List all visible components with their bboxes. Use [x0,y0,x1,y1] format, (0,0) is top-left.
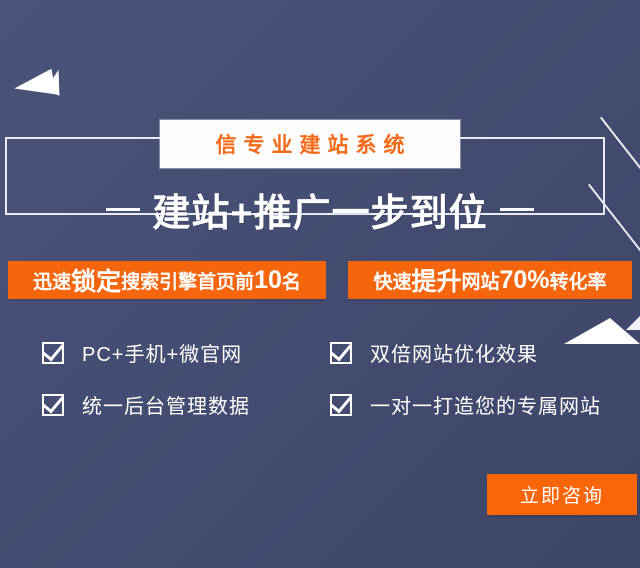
triangle-decor-small [626,316,640,330]
promo-tag-part-emphasis: 提升 [411,262,461,298]
badge-label: 信专业建站系统 [209,129,412,159]
checkbox-checked-icon [42,394,64,416]
promo-tag-part: 快速 [373,267,411,294]
consult-now-button-label: 立即咨询 [520,481,604,508]
promo-tag-part: 迅速 [33,267,71,294]
promo-tag-part-emphasis: 10 [254,266,282,295]
feature-item: 统一后台管理数据 [42,390,250,419]
headline-text: 建站+推广一步到位 [152,182,487,237]
promo-tag-part: 搜索引擎首页前 [121,267,254,294]
promo-tag-part: 网站 [461,267,499,294]
headline-rule-right [500,208,534,211]
promo-tag-part-emphasis: 锁定 [71,262,121,298]
headline-row: 建站+推广一步到位 [0,182,640,237]
promo-banner: 信专业建站系统 建站+推广一步到位 迅速 锁定 搜索引擎首页前 10 名 快速 … [0,0,640,568]
feature-label: 统一后台管理数据 [82,390,250,419]
feature-label: 双倍网站优化效果 [370,338,538,367]
checkbox-checked-icon [330,394,352,416]
badge-plate: 信专业建站系统 [160,120,460,168]
checkbox-checked-icon [330,342,352,364]
headline-rule-left [106,208,140,211]
checkbox-checked-icon [42,342,64,364]
feature-item: 双倍网站优化效果 [330,338,538,367]
promo-tag-bar-1: 迅速 锁定 搜索引擎首页前 10 名 [8,261,326,299]
promo-tag-part-emphasis: 70% [499,266,549,295]
promo-tag-bar-2: 快速 提升 网站 70% 转化率 [348,261,632,299]
feature-item: 一对一打造您的专属网站 [330,390,601,419]
feature-label: 一对一打造您的专属网站 [370,390,601,419]
promo-tag-part: 名 [282,267,301,294]
feature-item: PC+手机+微官网 [42,338,242,367]
feature-label: PC+手机+微官网 [82,338,242,367]
diagonal-line-decor [600,117,640,181]
paper-plane-wing-icon [45,70,60,96]
consult-now-button[interactable]: 立即咨询 [487,474,637,515]
promo-tag-part: 转化率 [550,267,607,294]
